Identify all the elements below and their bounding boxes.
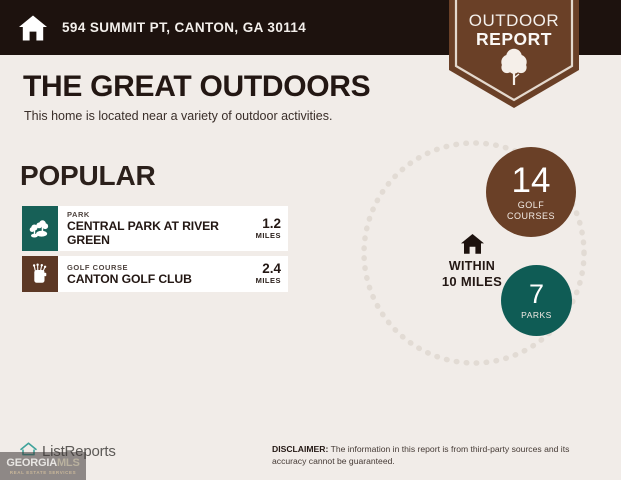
stat-bubble-golf-courses[interactable]: 14 GOLF COURSES [486, 147, 576, 237]
stat-count: 7 [529, 281, 544, 308]
mls-word-mls: MLS [57, 457, 80, 469]
list-item-category: GOLF COURSE [67, 263, 225, 272]
outdoor-report-badge: OUTDOOR REPORT [449, 0, 579, 108]
list-item-category: PARK [67, 210, 225, 219]
list-item[interactable]: PARK CENTRAL PARK AT RIVER GREEN 1.2 MIL… [22, 206, 288, 251]
distance-unit: MILES [256, 276, 281, 286]
list-item-name: CANTON GOLF CLUB [67, 272, 225, 286]
disclaimer: DISCLAIMER: The information in this repo… [272, 444, 597, 467]
home-icon [18, 14, 48, 42]
mls-wordmark: GEORGIAMLS [6, 457, 79, 470]
page-title: THE GREAT OUTDOORS [23, 70, 370, 104]
popular-section-heading: POPULAR [20, 161, 156, 191]
stat-label-line1: GOLF [518, 200, 545, 211]
popular-places-list: PARK CENTRAL PARK AT RIVER GREEN 1.2 MIL… [22, 206, 288, 297]
stat-label-line1: PARKS [521, 310, 552, 321]
golf-bag-icon [22, 256, 58, 292]
georgia-mls-watermark: GEORGIAMLS REAL ESTATE SERVICES [0, 452, 86, 480]
list-item[interactable]: GOLF COURSE CANTON GOLF CLUB 2.4 MILES [22, 256, 288, 292]
home-icon [412, 233, 532, 255]
stat-label-line2: COURSES [507, 211, 555, 222]
list-item-distance: 1.2 MILES [229, 206, 288, 251]
header-address-group: 594 SUMMIT PT, CANTON, GA 30114 [18, 0, 306, 55]
list-item-name: CENTRAL PARK AT RIVER GREEN [67, 219, 225, 247]
disclaimer-label: DISCLAIMER: [272, 444, 328, 454]
distance-unit: MILES [256, 231, 281, 241]
list-item-distance: 2.4 MILES [229, 256, 288, 292]
distance-value: 1.2 [262, 217, 281, 231]
outdoor-report-page: 594 SUMMIT PT, CANTON, GA 30114 OUTDOOR … [0, 0, 621, 480]
mls-tagline: REAL ESTATE SERVICES [10, 470, 76, 476]
stat-bubble-parks[interactable]: 7 PARKS [501, 265, 572, 336]
list-item-text: GOLF COURSE CANTON GOLF CLUB [58, 256, 229, 292]
mls-word-georgia: GEORGIA [6, 457, 57, 469]
radius-diagram: WITHIN 10 MILES 14 GOLF COURSES 7 PARKS [344, 140, 621, 390]
property-address: 594 SUMMIT PT, CANTON, GA 30114 [62, 20, 306, 35]
distance-value: 2.4 [262, 262, 281, 276]
stat-count: 14 [512, 163, 551, 198]
title-block: THE GREAT OUTDOORS This home is located … [23, 70, 370, 124]
list-item-text: PARK CENTRAL PARK AT RIVER GREEN [58, 206, 229, 251]
page-subtitle: This home is located near a variety of o… [24, 109, 370, 124]
park-trees-icon [22, 206, 58, 251]
